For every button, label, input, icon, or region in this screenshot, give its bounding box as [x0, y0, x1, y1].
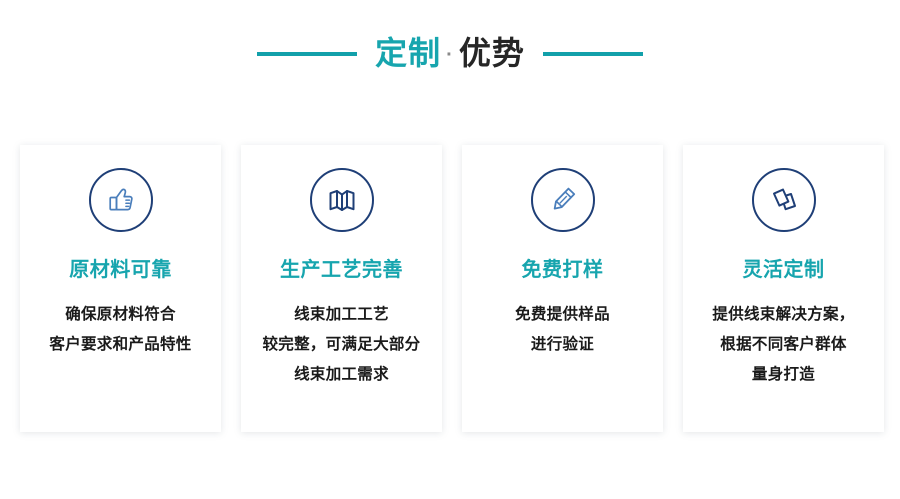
description-line: 进行验证: [470, 330, 655, 360]
advantage-card-title: 免费打样: [522, 258, 604, 282]
description-line: 线束加工需求: [249, 360, 434, 390]
advantage-card-title: 灵活定制: [743, 258, 825, 282]
description-line: 根据不同客户群体: [691, 330, 876, 360]
heading-main-text: 优势: [459, 35, 525, 71]
description-line: 线束加工工艺: [249, 300, 434, 330]
description-line: 量身打造: [691, 360, 876, 390]
pencil-icon: [531, 168, 595, 232]
heading-rule-right: [543, 52, 643, 56]
heading-rule-left: [257, 52, 357, 56]
advantage-card-title: 生产工艺完善: [280, 258, 403, 282]
description-line: 确保原材料符合: [28, 300, 213, 330]
advantage-card[interactable]: 灵活定制 提供线束解决方案， 根据不同客户群体 量身打造: [683, 145, 884, 432]
advantage-card[interactable]: 原材料可靠 确保原材料符合 客户要求和产品特性: [20, 145, 221, 432]
description-line: 客户要求和产品特性: [28, 330, 213, 360]
advantage-card-description: 提供线束解决方案， 根据不同客户群体 量身打造: [691, 300, 876, 390]
advantage-card[interactable]: 免费打样 免费提供样品 进行验证: [462, 145, 663, 432]
advantage-card-list: 原材料可靠 确保原材料符合 客户要求和产品特性 生产工艺完善 线束加工工艺 较完…: [20, 145, 885, 432]
folded-map-icon: [310, 168, 374, 232]
heading-accent-text: 定制: [375, 35, 441, 71]
description-line: 提供线束解决方案，: [691, 300, 876, 330]
advantage-card-description: 免费提供样品 进行验证: [470, 300, 655, 360]
advantage-card-description: 确保原材料符合 客户要求和产品特性: [28, 300, 213, 360]
page-title: 定制·优势: [375, 33, 525, 76]
heading-separator: ·: [441, 44, 459, 66]
section-heading: 定制·优势: [0, 26, 900, 82]
advantage-card-description: 线束加工工艺 较完整，可满足大部分 线束加工需求: [249, 300, 434, 390]
thumbs-up-icon: [89, 168, 153, 232]
advantages-section: 定制·优势 原材料可靠 确保原材料符合 客户要求和产品特性: [0, 0, 900, 499]
description-line: 较完整，可满足大部分: [249, 330, 434, 360]
advantage-card[interactable]: 生产工艺完善 线束加工工艺 较完整，可满足大部分 线束加工需求: [241, 145, 442, 432]
description-line: 免费提供样品: [470, 300, 655, 330]
stacked-pages-icon: [752, 168, 816, 232]
advantage-card-title: 原材料可靠: [69, 258, 172, 282]
